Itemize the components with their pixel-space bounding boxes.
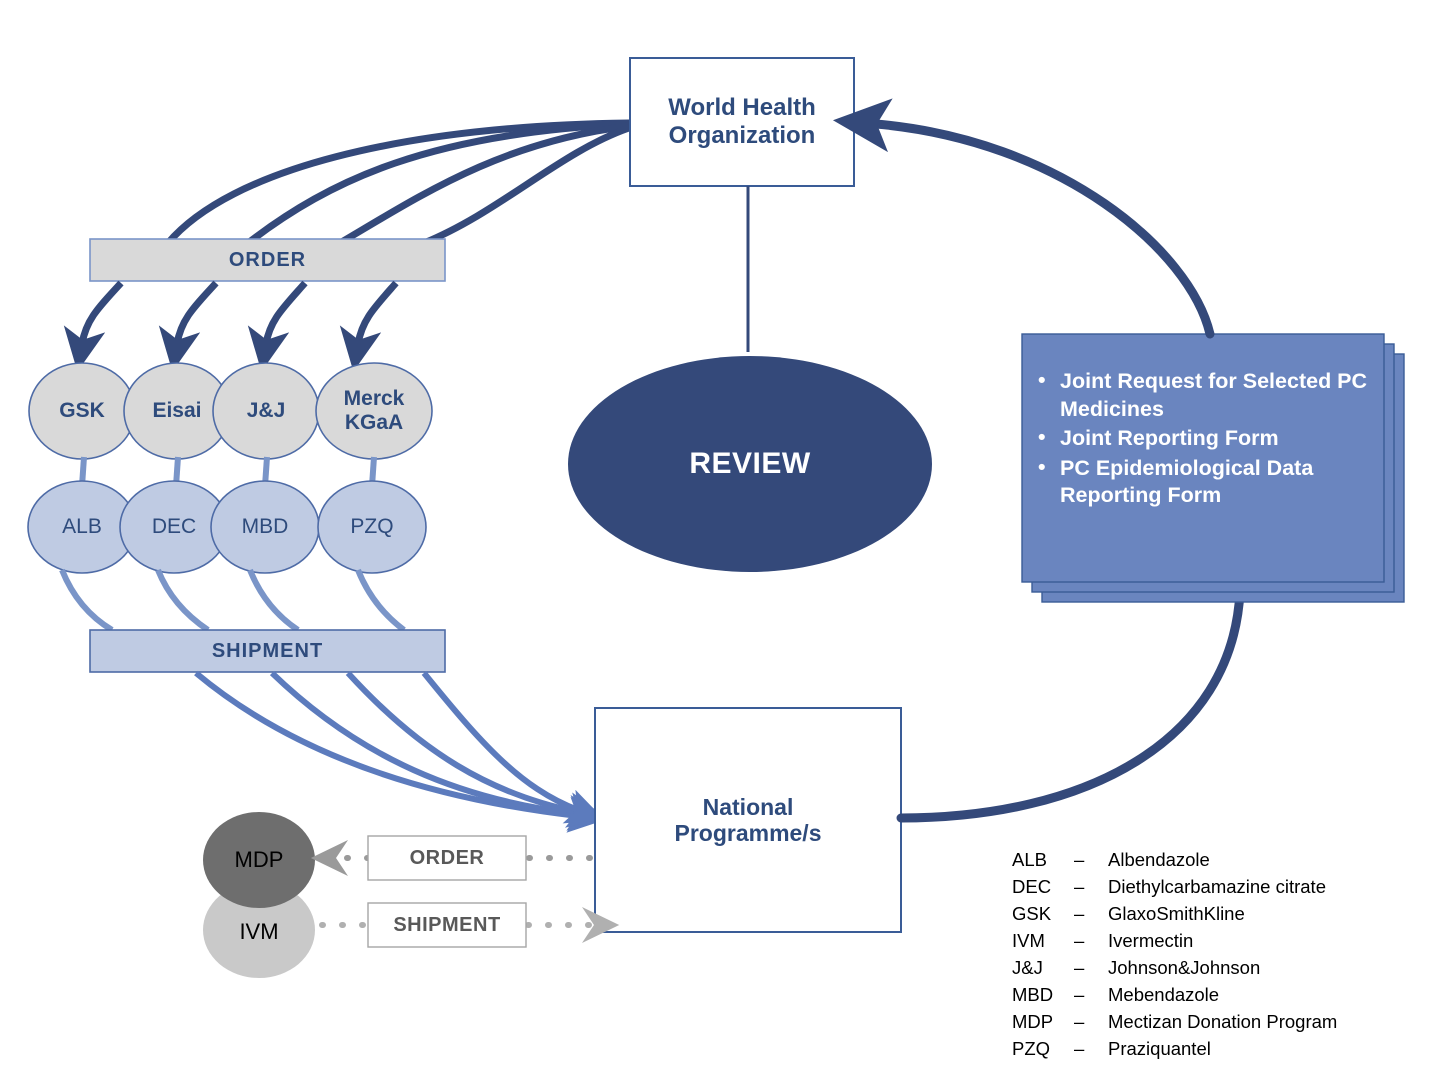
legend-dash: – xyxy=(1074,957,1108,984)
legend-abbr: DEC xyxy=(1012,876,1074,903)
shipment-bar-shape xyxy=(90,630,445,672)
company-circle-gsk xyxy=(29,363,135,459)
legend-full: Diethylcarbamazine citrate xyxy=(1108,876,1337,903)
legend-row: IVM – Ivermectin xyxy=(1012,930,1337,957)
legend-row: PZQ – Praziquantel xyxy=(1012,1038,1337,1065)
legend-dash: – xyxy=(1074,930,1108,957)
diagram-canvas: World Health Organization REVIEW Nationa… xyxy=(0,0,1434,1071)
company-circle-jnj xyxy=(213,363,319,459)
order-label-box-shape xyxy=(368,836,526,880)
medicine-circle-pzq xyxy=(318,481,426,573)
abbreviation-legend: ALB – Albendazole DEC – Diethylcarbamazi… xyxy=(1012,849,1337,1065)
company-circle-merck xyxy=(316,363,432,459)
legend-abbr: ALB xyxy=(1012,849,1074,876)
medicine-to-shipment-lines xyxy=(62,570,404,630)
legend-abbr: PZQ xyxy=(1012,1038,1074,1065)
legend-row: MBD – Mebendazole xyxy=(1012,984,1337,1011)
mdp-circle-shape xyxy=(203,812,315,908)
medicine-circle-mbd xyxy=(211,481,319,573)
shipment-label-box-shape xyxy=(368,903,526,947)
forms-card-stack xyxy=(1022,334,1404,602)
legend-table: ALB – Albendazole DEC – Diethylcarbamazi… xyxy=(1012,849,1337,1065)
review-ellipse-shape xyxy=(568,356,932,572)
legend-row: J&J – Johnson&Johnson xyxy=(1012,957,1337,984)
legend-abbr: J&J xyxy=(1012,957,1074,984)
legend-full: Mectizan Donation Program xyxy=(1108,1011,1337,1038)
forms-to-who-arc xyxy=(876,124,1210,334)
legend-full: GlaxoSmithKline xyxy=(1108,903,1337,930)
legend-full: Johnson&Johnson xyxy=(1108,957,1337,984)
legend-dash: – xyxy=(1074,1011,1108,1038)
who-box-shape xyxy=(630,58,854,186)
forms-card-sheet-front xyxy=(1022,334,1384,582)
legend-row: MDP – Mectizan Donation Program xyxy=(1012,1011,1337,1038)
legend-full: Mebendazole xyxy=(1108,984,1337,1011)
legend-abbr: MBD xyxy=(1012,984,1074,1011)
legend-dash: – xyxy=(1074,984,1108,1011)
legend-dash: – xyxy=(1074,876,1108,903)
company-circles xyxy=(29,363,432,459)
national-programme-box-shape xyxy=(595,708,901,932)
legend-dash: – xyxy=(1074,903,1108,930)
legend-body: ALB – Albendazole DEC – Diethylcarbamazi… xyxy=(1012,849,1337,1065)
national-to-forms-arc xyxy=(901,592,1240,818)
legend-full: Ivermectin xyxy=(1108,930,1337,957)
legend-full: Praziquantel xyxy=(1108,1038,1337,1065)
order-bar-shape xyxy=(90,239,445,281)
medicine-circles xyxy=(28,481,426,573)
legend-row: ALB – Albendazole xyxy=(1012,849,1337,876)
order-to-company-arrows xyxy=(82,283,396,344)
legend-row: DEC – Diethylcarbamazine citrate xyxy=(1012,876,1337,903)
legend-row: GSK – GlaxoSmithKline xyxy=(1012,903,1337,930)
legend-abbr: MDP xyxy=(1012,1011,1074,1038)
legend-full: Albendazole xyxy=(1108,849,1337,876)
order-to-who-curves xyxy=(168,123,629,243)
legend-abbr: IVM xyxy=(1012,930,1074,957)
shipment-to-national-curves xyxy=(196,673,578,816)
legend-abbr: GSK xyxy=(1012,903,1074,930)
company-medicine-connectors xyxy=(82,457,374,486)
legend-dash: – xyxy=(1074,849,1108,876)
legend-dash: – xyxy=(1074,1038,1108,1065)
